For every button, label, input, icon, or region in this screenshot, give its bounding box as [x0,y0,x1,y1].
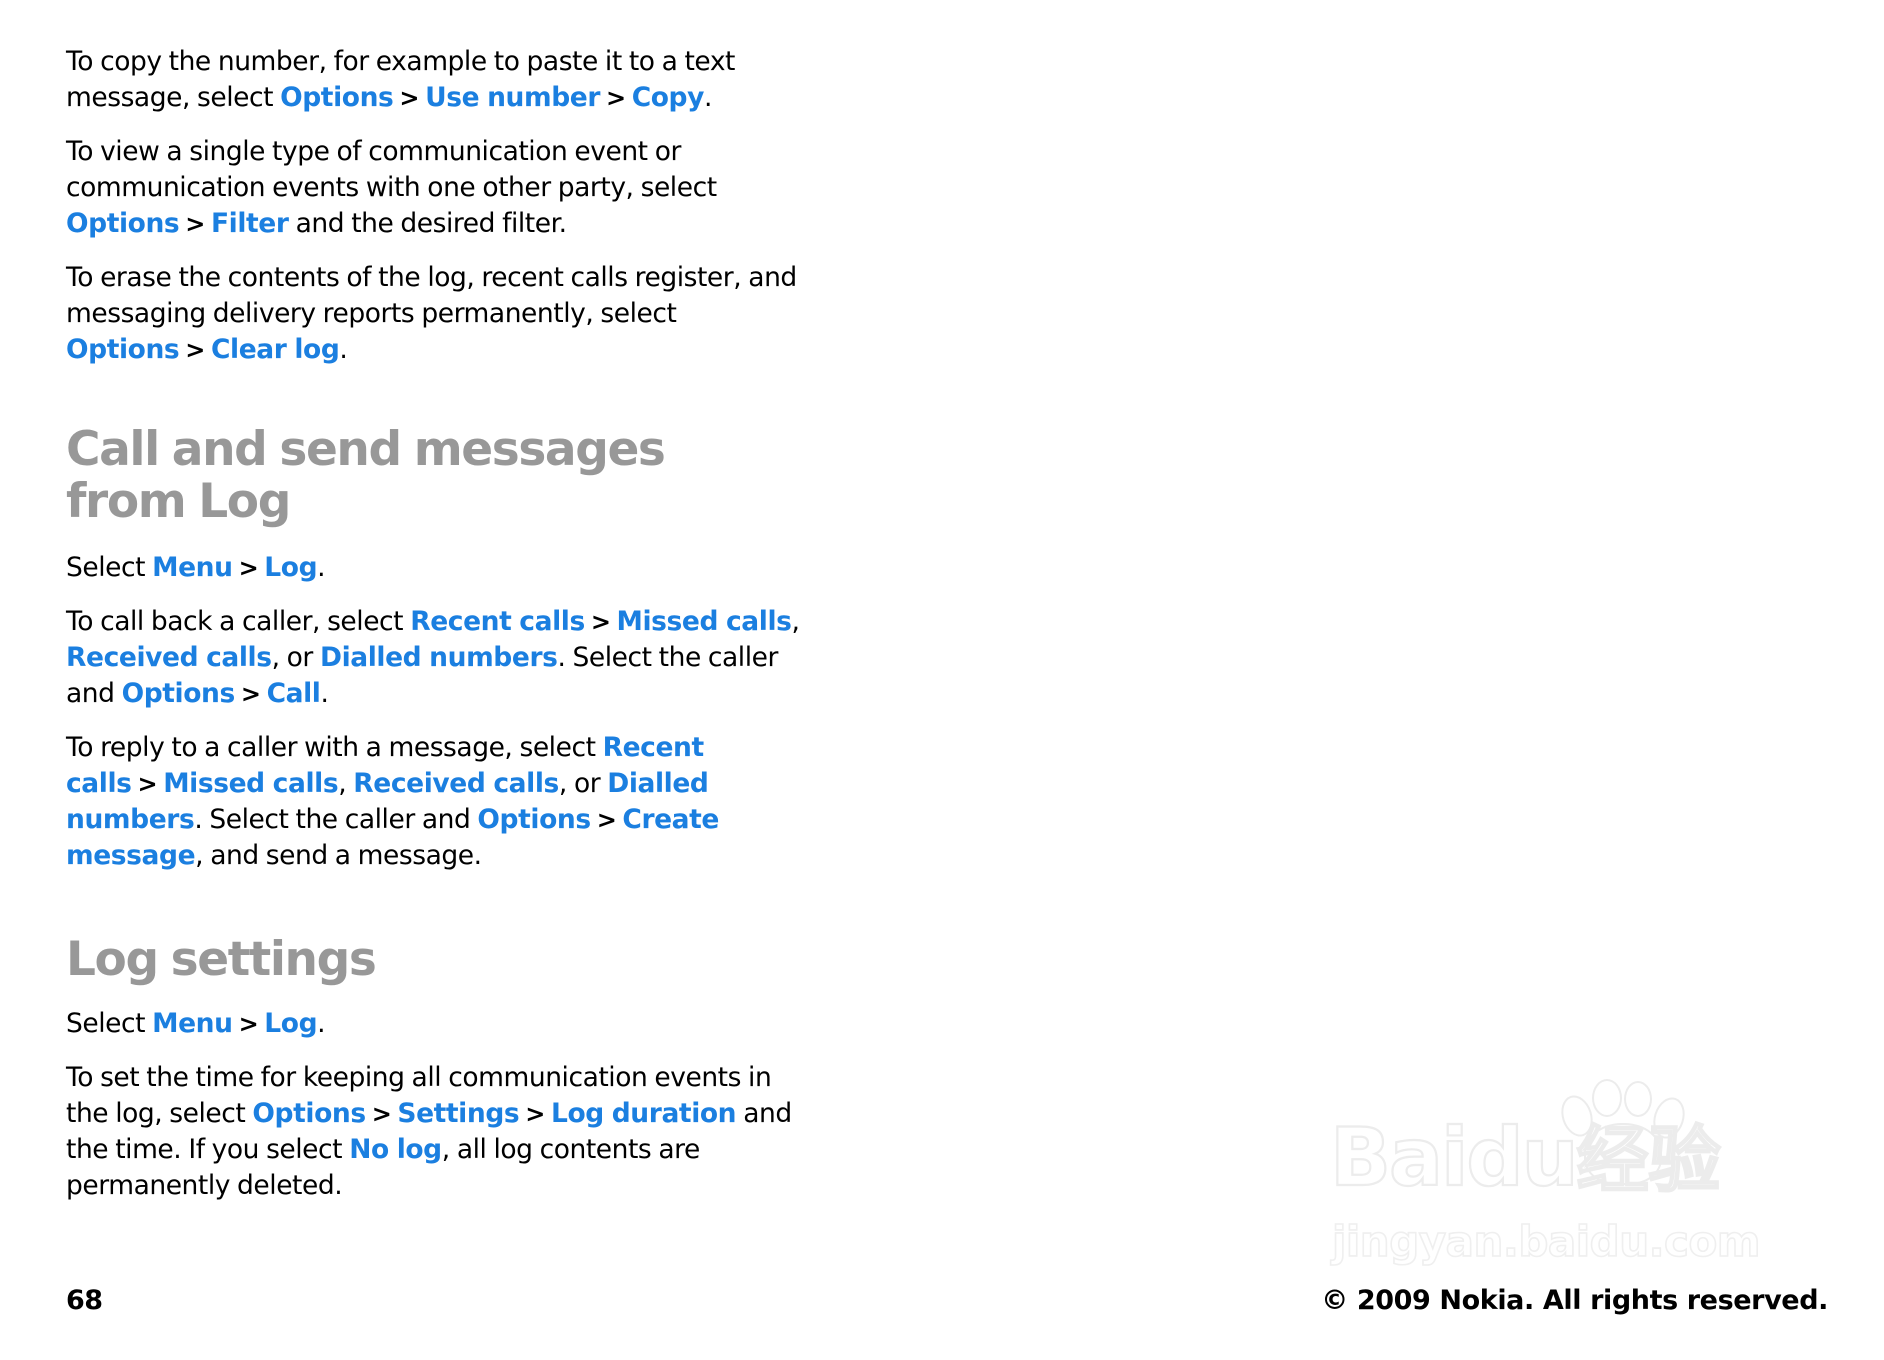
section-heading-log-settings: Log settings [66,934,726,986]
text-run: , [792,606,800,637]
text-column: To copy the number, for example to paste… [66,44,806,1222]
text-run: To view a single type of communication e… [66,136,717,203]
paragraph-log-duration: To set the time for keeping all communic… [66,1060,806,1204]
text-run: . [317,1008,325,1039]
ui-term-log-duration: Log duration [551,1098,736,1129]
ui-term-use-number: Use number [425,82,600,113]
ui-term-filter: Filter [211,208,289,239]
text-run: To reply to a caller with a message, sel… [66,732,603,763]
ui-term-missed-calls: Missed calls [617,606,792,637]
section-heading-call-and-send-messages-from-log: Call and send messages from Log [66,424,726,528]
path-separator: > [366,1100,398,1128]
text-run: . [320,678,328,709]
baidu-paw-icon [1558,1079,1688,1199]
ui-term-options: Options [122,678,235,709]
paragraph-reply-with-message: To reply to a caller with a message, sel… [66,730,806,874]
text-run: , or [559,768,607,799]
text-run: . [317,552,325,583]
path-separator: > [179,336,211,364]
path-separator: > [233,554,265,582]
path-separator: > [179,210,211,238]
ui-term-options: Options [280,82,393,113]
ui-term-log: Log [264,552,317,583]
ui-term-received-calls: Received calls [353,768,559,799]
text-run: To erase the contents of the log, recent… [66,262,797,329]
path-separator: > [235,680,267,708]
ui-term-options: Options [66,208,179,239]
ui-term-missed-calls: Missed calls [163,768,338,799]
ui-term-log: Log [264,1008,317,1039]
ui-term-menu: Menu [152,1008,232,1039]
ui-term-menu: Menu [152,552,232,583]
path-separator: > [591,806,623,834]
baidu-jingyan-watermark: Baidu经验 jingyan.baidu.com [1330,1105,1800,1280]
text-run: . Select the caller and [194,804,477,835]
paragraph-select-menu-log-1: Select Menu>Log. [66,550,806,586]
ui-term-options: Options [477,804,590,835]
document-page: To copy the number, for example to paste… [0,0,1884,1360]
baidu-url-text: jingyan.baidu.com [1332,1217,1760,1266]
page-number: 68 [66,1285,103,1316]
text-run: . [339,334,347,365]
text-run: and the desired filter. [289,208,567,239]
baidu-brand-text: Baidu [1330,1111,1577,1204]
ui-term-received-calls: Received calls [66,642,272,673]
paragraph-call-back-caller: To call back a caller, select Recent cal… [66,604,806,712]
ui-term-options: Options [252,1098,365,1129]
baidu-brand-cn-text: 经验 [1577,1118,1721,1202]
ui-term-no-log: No log [349,1134,442,1165]
paragraph-erase-log: To erase the contents of the log, recent… [66,260,806,368]
text-run: . [704,82,712,113]
path-separator: > [233,1010,265,1038]
path-separator: > [585,608,617,636]
baidu-logo-text: Baidu经验 [1330,1115,1721,1203]
text-run: Select [66,1008,152,1039]
paragraph-select-menu-log-2: Select Menu>Log. [66,1006,806,1042]
copyright-notice: © 2009 Nokia. All rights reserved. [1321,1285,1828,1316]
path-separator: > [393,84,425,112]
path-separator: > [132,770,164,798]
ui-term-dialled-numbers: Dialled numbers [320,642,558,673]
ui-term-clear-log: Clear log [211,334,339,365]
paragraph-view-single-type: To view a single type of communication e… [66,134,806,242]
paragraph-copy-number: To copy the number, for example to paste… [66,44,806,116]
path-separator: > [519,1100,551,1128]
ui-term-copy: Copy [632,82,704,113]
text-run: Select [66,552,152,583]
text-run: To call back a caller, select [66,606,410,637]
path-separator: > [600,84,632,112]
text-run: , [338,768,353,799]
ui-term-settings: Settings [397,1098,519,1129]
text-run: , and send a message. [195,840,481,871]
ui-term-call: Call [267,678,321,709]
text-run: , or [272,642,320,673]
ui-term-recent-calls: Recent calls [410,606,585,637]
ui-term-options: Options [66,334,179,365]
